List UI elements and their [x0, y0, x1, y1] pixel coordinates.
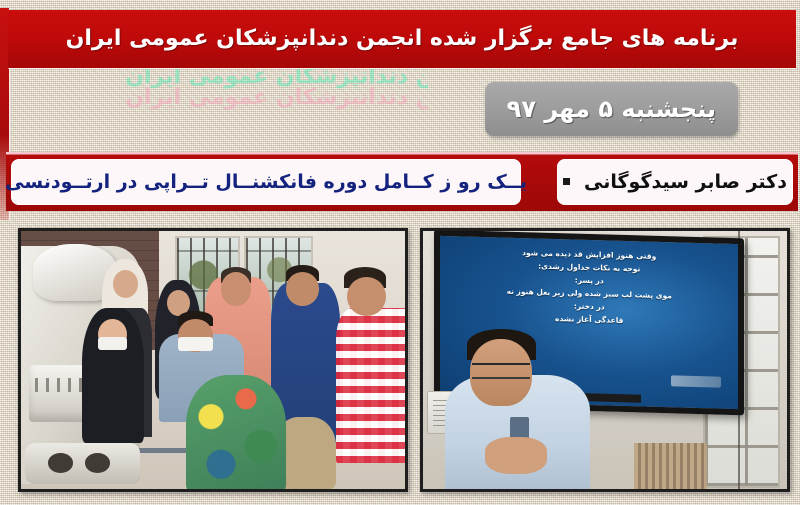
course-title-bar: یــک رو ز کــامل دوره فانکشنــال تــراپی…	[6, 152, 798, 211]
course-title-text: یــک رو ز کــامل دوره فانکشنــال تــراپی…	[5, 171, 527, 193]
slide-line-1: وقتی هنوز افزایش قد دیده می شود	[522, 248, 656, 261]
slide-line-4: موی پشت لب سبز شده ولی زیر بغل هنوز نه	[506, 286, 671, 300]
clinician-woman-mask	[98, 337, 127, 350]
photo-left-content	[21, 231, 405, 489]
dental-unit-base	[25, 443, 140, 484]
date-badge: پنجشنبه ۵ مهر ۹۷	[485, 82, 738, 136]
photo-right-content: وقتی هنوز افزایش قد دیده می شود توجه به …	[423, 231, 787, 489]
speaker-name-text: دکتر صابر سیدگوگانی	[584, 171, 787, 193]
attendee-man-checked-face	[347, 277, 385, 316]
lecturer-glasses	[472, 363, 530, 380]
tv-brand-logo	[670, 375, 720, 387]
course-title-box: یــک رو ز کــامل دوره فانکشنــال تــراپی…	[11, 159, 521, 205]
attendee-man-checked-shirt	[336, 308, 408, 463]
header-banner: برنامه های جامع برگزار شده انجمن دندانپز…	[8, 10, 796, 68]
room-radiator	[634, 443, 707, 489]
slide-line-6: قاعدگی آغاز نشده	[555, 314, 623, 325]
date-text: پنجشنبه ۵ مهر ۹۷	[507, 95, 716, 123]
patient-floral-gown	[186, 375, 286, 492]
slide-line-2: توجه به نکات جداول رشدی:	[538, 261, 640, 273]
attendee-man-peach-face	[221, 272, 252, 306]
attendee-woman-1-face	[113, 270, 138, 298]
ghost-text-pink: برنامه های جامع برگزار شده انجمن دندانپز…	[125, 85, 428, 110]
ghost-text-green: برنامه های جامع برگزار شده انجمن دندانپز…	[125, 69, 428, 89]
slide-line-3: در پسر:	[575, 275, 604, 285]
speaker-box: دکتر صابر سیدگوگانی	[557, 159, 793, 205]
square-bullet-icon	[563, 178, 570, 185]
dentist-mask	[178, 337, 213, 351]
event-poster: برنامه های جامع برگزار شده انجمن دندانپز…	[0, 0, 800, 505]
photo-clinic-demonstration	[18, 228, 408, 492]
tv-stand	[583, 393, 641, 402]
attendee-man-blue-face	[286, 272, 319, 306]
banner-title: برنامه های جامع برگزار شده انجمن دندانپز…	[22, 26, 782, 51]
slide-line-5: در دختر:	[574, 301, 605, 311]
banner-ghost-artifact: برنامه های جامع برگزار شده انجمن دندانپز…	[8, 69, 428, 115]
lecturer-hands	[485, 437, 547, 473]
photo-lecture-presentation: وقتی هنوز افزایش قد دیده می شود توجه به …	[420, 228, 790, 492]
